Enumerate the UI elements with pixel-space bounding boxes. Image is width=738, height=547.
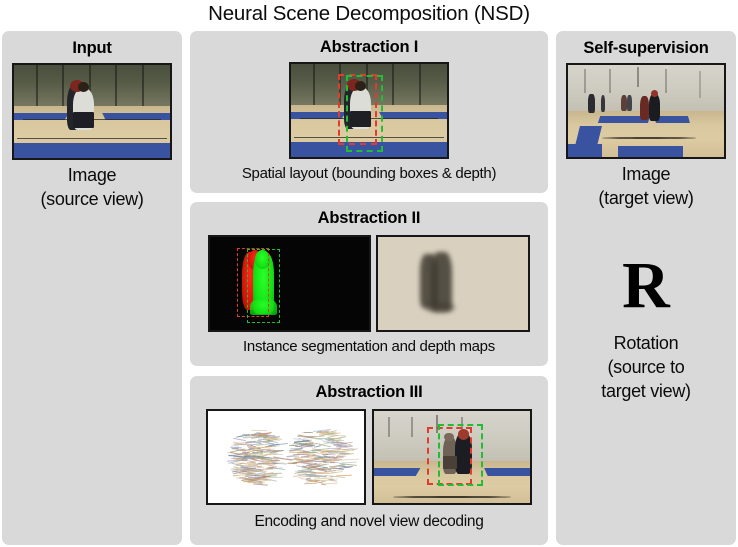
window-mullion — [388, 417, 390, 437]
gym-scene-novel — [374, 411, 530, 503]
court-arc — [393, 496, 512, 498]
floor-mat — [372, 468, 420, 476]
panel-input: Input Imag — [2, 31, 182, 545]
person-head — [355, 81, 366, 91]
latent-stroke — [233, 475, 239, 476]
floor-mat — [12, 143, 172, 159]
panel-input-caption-line1: Image — [2, 163, 182, 187]
window-mullion — [609, 69, 611, 93]
panel-input-title: Input — [2, 38, 182, 58]
person-silhouette — [640, 96, 649, 120]
panel-abstraction-2-caption: Instance segmentation and depth maps — [190, 337, 548, 357]
court-line — [17, 138, 167, 139]
court-arc — [602, 137, 696, 139]
gym-scene-source — [14, 65, 170, 158]
window-mullion — [637, 67, 639, 87]
floor-mat — [484, 468, 532, 476]
person-silhouette — [649, 94, 660, 122]
person-shorts — [350, 111, 370, 127]
latent-stroke — [304, 483, 317, 485]
depth-canvas — [378, 237, 528, 330]
background-person — [627, 95, 632, 111]
segment-head-green — [255, 250, 271, 269]
panel-abstraction-1: Abstraction I — [190, 31, 548, 193]
person-head — [444, 433, 453, 441]
ss-rot-caption-line1: Rotation — [556, 331, 736, 355]
person-head — [78, 82, 89, 92]
depth-map-image — [376, 235, 530, 332]
target-view-image — [566, 63, 726, 159]
depth-shadow — [425, 302, 455, 313]
window-mullion — [699, 71, 701, 99]
figure-root: Neural Scene Decomposition (NSD) Input — [0, 0, 738, 547]
ss-image-caption-line2: (target view) — [556, 186, 736, 210]
window-mullion — [584, 69, 586, 93]
source-view-image — [12, 63, 172, 160]
latent-stroke — [321, 483, 326, 485]
window-mullion — [411, 417, 413, 437]
floor-mat — [289, 142, 449, 158]
panel-abstraction-3-title: Abstraction III — [190, 382, 548, 402]
latent-stroke — [268, 446, 276, 448]
segment-legs-green — [250, 298, 277, 315]
floor-mat — [618, 146, 684, 159]
window-mullion — [665, 69, 667, 93]
panel-abstraction-2: Abstraction II Instance segmentation and… — [190, 202, 548, 366]
ss-rot-caption-line2: (source to — [556, 355, 736, 379]
rotation-symbol: R — [556, 253, 736, 319]
window-mullion — [436, 415, 438, 433]
latent-stroke — [322, 454, 328, 456]
ss-image-caption-line1: Image — [556, 162, 736, 186]
panel-abstraction-3: Abstraction III — [190, 376, 548, 545]
segmentation-canvas — [210, 237, 369, 330]
background-person — [588, 94, 594, 112]
panel-abstraction-3-caption: Encoding and novel view decoding — [190, 512, 548, 532]
instance-segmentation-image — [208, 235, 371, 332]
panel-self-supervision-image-caption: Image (target view) — [556, 162, 736, 210]
panel-input-caption-line2: (source view) — [2, 187, 182, 211]
panel-abstraction-1-caption: Spatial layout (bounding boxes & depth) — [190, 164, 548, 184]
figure-title: Neural Scene Decomposition (NSD) — [0, 0, 738, 27]
panel-self-supervision-rotation-caption: Rotation (source to target view) — [556, 331, 736, 403]
person-shorts — [443, 456, 457, 469]
person-shorts — [73, 112, 93, 128]
background-person — [601, 95, 606, 112]
gym-scene-boxed — [291, 64, 447, 157]
abstraction-1-image — [289, 62, 449, 159]
person-head — [458, 429, 469, 439]
court-line — [294, 137, 444, 138]
latent-stroke — [251, 430, 267, 432]
panel-self-supervision-title: Self-supervision — [556, 38, 736, 58]
panel-abstraction-2-title: Abstraction II — [190, 208, 548, 228]
gym-scene-target — [568, 65, 724, 157]
panel-abstraction-1-title: Abstraction I — [190, 37, 548, 57]
latent-canvas — [208, 411, 364, 503]
panel-self-supervision: Self-supervision — [556, 31, 736, 545]
novel-view-image — [372, 409, 532, 505]
ss-rot-caption-line3: target view) — [556, 379, 736, 403]
panel-input-caption: Image (source view) — [2, 163, 182, 211]
floor-mat — [566, 144, 602, 159]
latent-encoding-image — [206, 409, 366, 505]
